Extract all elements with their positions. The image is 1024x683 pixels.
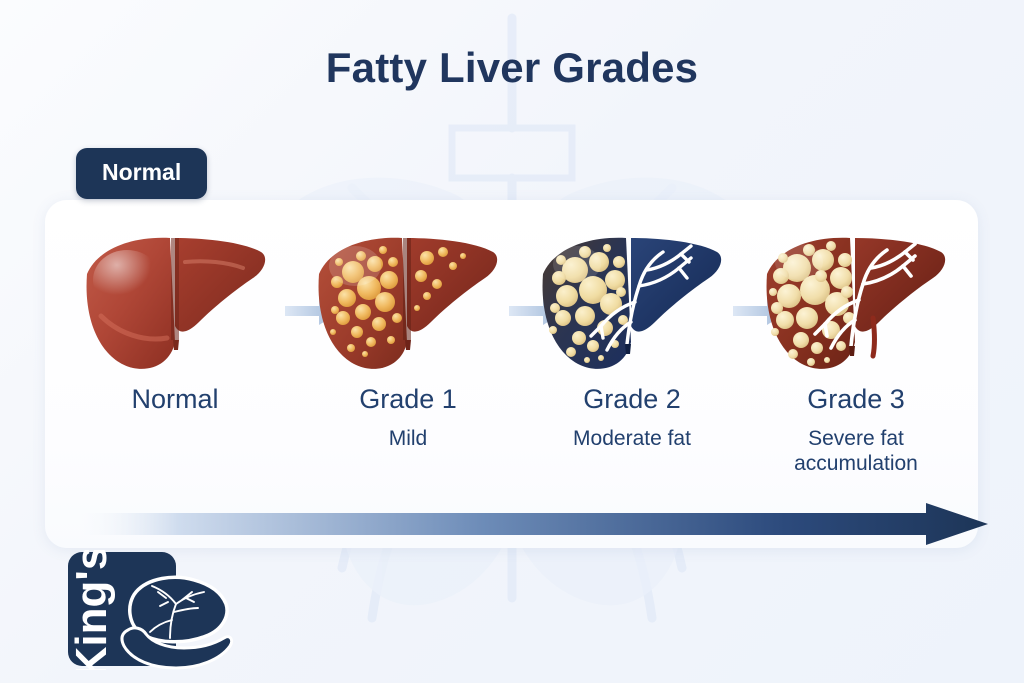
stage-title-grade-2: Grade 2 bbox=[527, 384, 737, 416]
stage-title-grade-3: Grade 3 bbox=[751, 384, 961, 416]
stage-title-grade-1: Grade 1 bbox=[303, 384, 513, 416]
liver-stage-row bbox=[45, 222, 978, 382]
stage-subtitle-grade-3: Severe fat accumulation bbox=[751, 426, 961, 477]
brand-logo: King's bbox=[66, 550, 236, 670]
liver-grade-2-icon bbox=[531, 222, 731, 382]
stage-label-grade-1: Grade 1 Mild bbox=[303, 384, 513, 451]
liver-grade-1-icon bbox=[307, 222, 507, 382]
stage-subtitle-grade-2: Moderate fat bbox=[527, 426, 737, 452]
stage-labels-row: Normal Grade 1 Mild Grade 2 Moderate fat… bbox=[45, 384, 978, 514]
stage-title-normal: Normal bbox=[70, 384, 280, 416]
page-title: Fatty Liver Grades bbox=[0, 44, 1024, 92]
stage-label-grade-3: Grade 3 Severe fat accumulation bbox=[751, 384, 961, 477]
liver-grade-3-icon bbox=[755, 222, 955, 382]
logo-wordmark: King's bbox=[67, 550, 116, 670]
stage-label-grade-2: Grade 2 Moderate fat bbox=[527, 384, 737, 451]
stage-label-normal: Normal bbox=[70, 384, 280, 416]
stage-subtitle-grade-3-line-1: Severe fat bbox=[751, 426, 961, 452]
liver-in-hand-icon bbox=[122, 577, 232, 668]
stage-subtitle-grade-3-line-2: accumulation bbox=[751, 451, 961, 477]
normal-badge: Normal bbox=[76, 148, 207, 199]
long-arrow-right-icon bbox=[68, 503, 988, 545]
stage-subtitle-grade-1: Mild bbox=[303, 426, 513, 452]
liver-normal-icon bbox=[75, 222, 275, 382]
